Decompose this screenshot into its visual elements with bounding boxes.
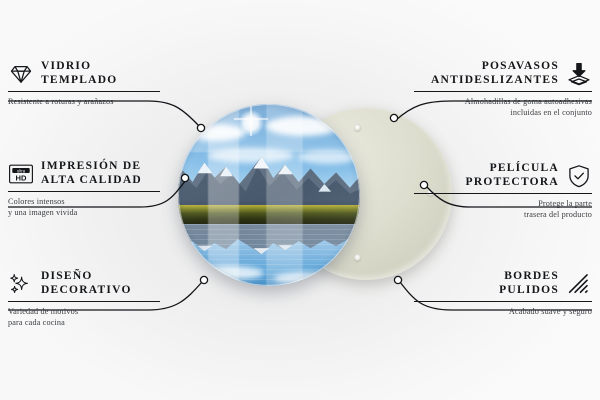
feature-title-line1: POSAVASOS xyxy=(431,60,559,74)
stack-down-arrow-icon xyxy=(566,61,592,87)
connector-dot-posavasos xyxy=(390,114,397,121)
feature-title-line2: ALTA CALIDAD xyxy=(41,174,142,188)
feature-title-line1: DISEÑO xyxy=(41,270,132,284)
feature-diseno-decorativo[interactable]: DISEÑO DECORATIVO Variedad de motivos pa… xyxy=(8,270,168,328)
feature-subtitle-line1: Resistente a roturas y arañazos xyxy=(8,96,168,107)
connector-dot-vidrio xyxy=(197,124,204,131)
feature-subtitle-line2: incluidas en el conjunto xyxy=(414,107,592,118)
feature-subtitle-line1: Variedad de motivos xyxy=(8,306,168,317)
feature-title-line2: ANTIDESLIZANTES xyxy=(431,74,559,88)
divider xyxy=(8,191,160,192)
feature-subtitle-line1: Acabado suave y seguro xyxy=(414,306,592,317)
feature-title-line2: DECORATIVO xyxy=(41,284,132,298)
diagonal-stripes-icon xyxy=(566,271,592,297)
divider xyxy=(414,91,592,92)
feature-subtitle-line2: para cada cocina xyxy=(8,317,168,328)
feature-title-line1: IMPRESIÓN DE xyxy=(41,160,142,174)
infographic-canvas: VIDRIO TEMPLADO Resistente a roturas y a… xyxy=(0,0,600,400)
divider xyxy=(414,301,592,302)
feature-title-line1: BORDES xyxy=(499,270,559,284)
connector-dot-bordes xyxy=(394,276,401,283)
feature-pelicula-protectora[interactable]: PELÍCULA PROTECTORA Protege la parte tra… xyxy=(414,162,592,220)
sparkles-icon xyxy=(8,271,34,297)
feature-subtitle-line1: Colores intensos xyxy=(8,196,168,207)
divider xyxy=(8,301,160,302)
feature-subtitle-line2: trasera del producto xyxy=(414,209,592,220)
feature-title-line2: PROTECTORA xyxy=(466,176,559,190)
feature-subtitle-line1: Protege la parte xyxy=(414,198,592,209)
feature-bordes-pulidos[interactable]: BORDES PULIDOS Acabado suave y seguro xyxy=(414,270,592,317)
feature-title-line2: PULIDOS xyxy=(499,284,559,298)
feature-title-line2: TEMPLADO xyxy=(41,74,117,88)
connector-dot-diseno xyxy=(200,276,207,283)
feature-vidrio-templado[interactable]: VIDRIO TEMPLADO Resistente a roturas y a… xyxy=(8,60,168,107)
divider xyxy=(414,193,592,194)
divider xyxy=(8,91,160,92)
diamond-icon xyxy=(8,61,34,87)
feature-impresion-alta-calidad[interactable]: ultra HD IMPRESIÓN DE ALTA CALIDAD Color… xyxy=(8,160,168,218)
feature-title-line1: VIDRIO xyxy=(41,60,117,74)
connector-dot-impresion xyxy=(181,174,188,181)
shield-check-icon xyxy=(566,163,592,189)
feature-subtitle-line1: Almohadillas de goma autoadhesivas xyxy=(414,96,592,107)
ultra-label: ultra xyxy=(17,168,26,173)
ultra-hd-icon: ultra HD xyxy=(8,161,34,187)
feature-title-line1: PELÍCULA xyxy=(466,162,559,176)
feature-subtitle-line2: y una imagen vivida xyxy=(8,207,168,218)
feature-posavasos-antideslizantes[interactable]: POSAVASOS ANTIDESLIZANTES Almohadillas d… xyxy=(414,60,592,118)
hd-label: HD xyxy=(16,173,27,182)
